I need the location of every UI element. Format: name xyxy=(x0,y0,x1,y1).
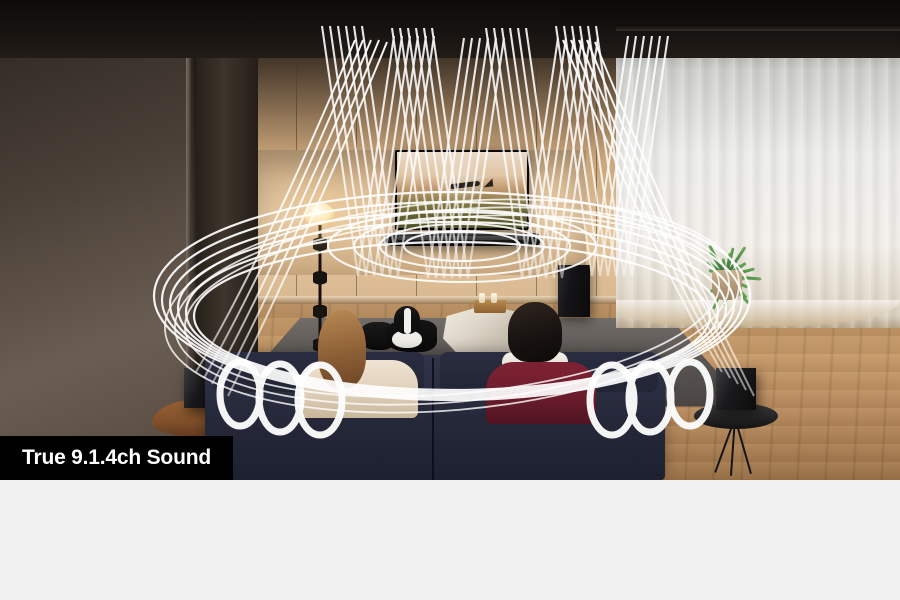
woman-hair xyxy=(318,310,366,388)
potted-plant-icon xyxy=(694,192,762,278)
subwoofer xyxy=(558,265,590,317)
plant-pot xyxy=(712,270,742,300)
sofa-seam xyxy=(432,358,434,480)
curtains xyxy=(616,28,900,328)
ceiling-right xyxy=(560,0,900,44)
footer: Immerse yourself breathtaking sound xyxy=(0,480,900,600)
hero-image xyxy=(0,0,900,480)
soundbar xyxy=(385,233,541,246)
man-hair xyxy=(508,302,562,362)
candle xyxy=(479,293,485,303)
dog-blaze xyxy=(404,308,411,334)
tv-screen xyxy=(397,152,527,228)
candle xyxy=(491,293,497,303)
status-badge: True 9.1.4ch Sound xyxy=(0,436,233,480)
curtain-rod xyxy=(616,25,900,31)
man-body xyxy=(486,362,596,424)
promo-banner: True 9.1.4ch Sound Immerse yourself brea… xyxy=(0,0,900,600)
rear-speaker-right xyxy=(716,368,756,410)
floor-lamp-shade xyxy=(305,203,335,225)
badge-label: True 9.1.4ch Sound xyxy=(22,446,211,470)
tv xyxy=(395,150,529,230)
